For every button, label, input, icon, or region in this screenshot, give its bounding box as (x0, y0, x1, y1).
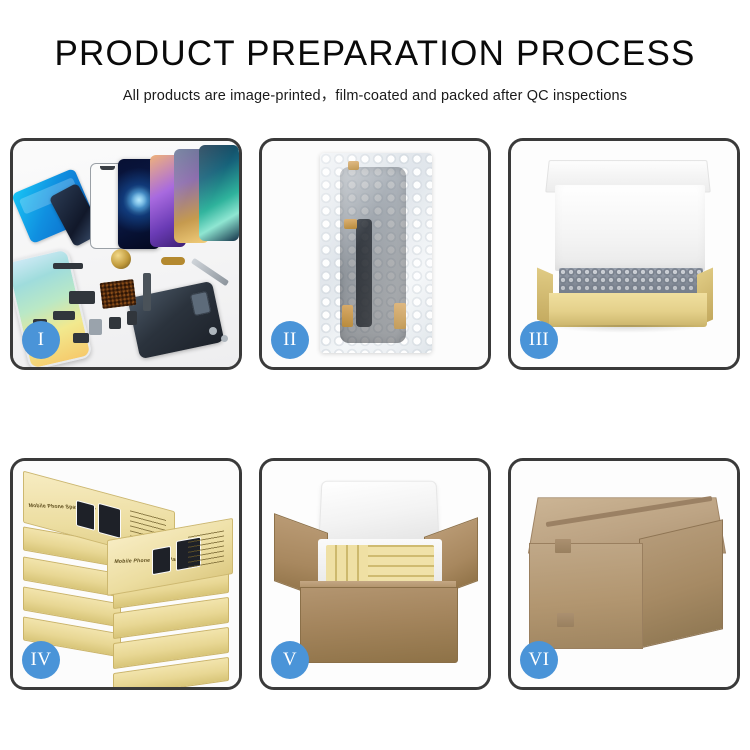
box-product-image (152, 546, 171, 575)
carton-front-face (529, 543, 643, 649)
header: PRODUCT PREPARATION PROCESS All products… (0, 0, 750, 105)
bubble-wrap-package (320, 153, 432, 353)
box-product-image (76, 500, 95, 531)
box-lid-inner-face (555, 185, 705, 271)
product-preparation-infographic: PRODUCT PREPARATION PROCESS All products… (0, 0, 750, 750)
box-label-text: Mobile Phone Spare Parts (114, 557, 183, 566)
flex-cable (143, 273, 151, 311)
step-badge-1: I (22, 321, 60, 359)
logic-board-chip (100, 279, 137, 309)
box-spec-lines (188, 529, 224, 567)
spare-part (53, 311, 75, 320)
step-badge-6: VI (520, 641, 558, 679)
step-card-5: V (259, 458, 491, 690)
step-badge-4: IV (22, 641, 60, 679)
page-subtitle: All products are image-printed，film-coat… (0, 84, 750, 105)
spare-part (89, 319, 102, 335)
box-product-image (98, 503, 121, 539)
carton-body (300, 587, 458, 663)
step-card-4: Mobile Phone Spare Parts Mobile Phone Sp… (10, 458, 242, 690)
packed-inner-boxes (326, 545, 434, 585)
spare-part (161, 257, 185, 265)
foam-box-lid (318, 481, 439, 543)
spare-part (73, 333, 89, 343)
spare-part (127, 311, 137, 325)
spare-part (109, 317, 121, 329)
step-badge-5: V (271, 641, 309, 679)
step-card-3: III (508, 138, 740, 370)
tweezer-tool (191, 258, 229, 286)
carton-side-face (639, 519, 723, 648)
gold-component (111, 249, 131, 269)
page-title: PRODUCT PREPARATION PROCESS (0, 36, 750, 73)
carton-handle-tab (555, 539, 571, 553)
screw (221, 335, 228, 342)
carton-handle-tab (557, 613, 574, 627)
drop-shadow (547, 325, 707, 333)
box-front-wall (549, 293, 707, 327)
teal-gradient-phone (199, 145, 239, 241)
step-badge-2: II (271, 321, 309, 359)
step-card-2: II (259, 138, 491, 370)
screw (209, 327, 217, 335)
film-gloss-overlay (320, 153, 432, 353)
step-badge-3: III (520, 321, 558, 359)
process-step-grid: I II (10, 138, 740, 690)
step-card-6: VI (508, 458, 740, 690)
spare-part (53, 263, 83, 269)
spare-part (69, 291, 95, 304)
step-card-1: I (10, 138, 242, 370)
